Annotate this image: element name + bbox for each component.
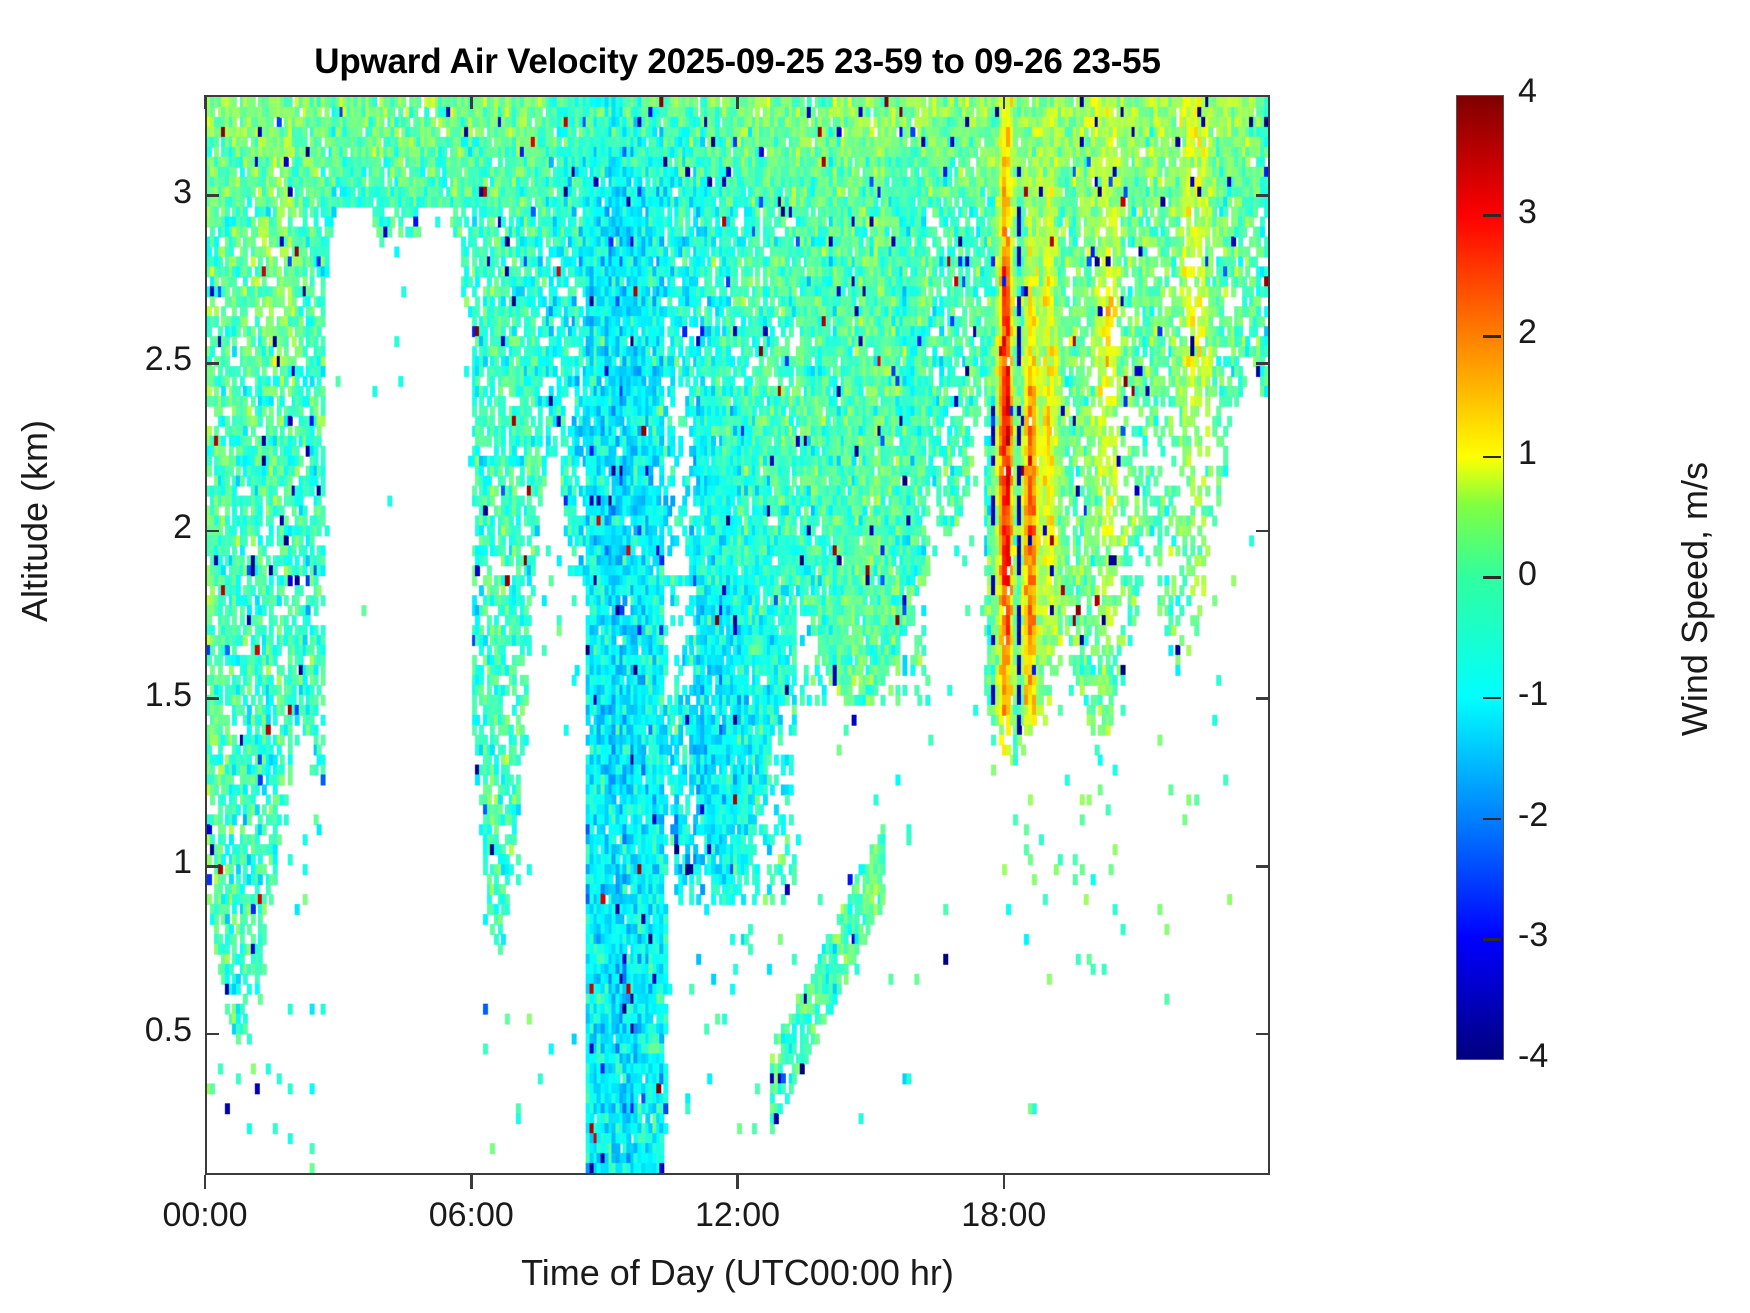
x-tick-mark: [1003, 1175, 1006, 1189]
x-tick-mark: [736, 1175, 739, 1189]
y-tick-label: 1: [173, 843, 192, 882]
x-tick-label: 00:00: [162, 1196, 247, 1235]
y-tick-label: 3: [173, 173, 192, 212]
colorbar-tick-label: 1: [1518, 434, 1537, 473]
y-tick-mark-right: [1256, 362, 1270, 365]
y-tick-label: 2.5: [145, 340, 192, 379]
y-tick-mark: [205, 194, 219, 197]
y-tick-mark-right: [1256, 1033, 1270, 1036]
colorbar-tick-mark: [1483, 576, 1501, 579]
colorbar-tick-mark: [1483, 938, 1501, 941]
x-tick-label: 06:00: [429, 1196, 514, 1235]
x-tick-mark-top: [1003, 95, 1006, 109]
colorbar-tick-label: -2: [1518, 796, 1548, 835]
colorbar-label: Wind Speed, m/s: [1674, 349, 1716, 849]
colorbar-tick-label: 0: [1518, 555, 1537, 594]
heatmap-canvas: [207, 97, 1268, 1173]
page-title: Upward Air Velocity 2025-09-25 23-59 to …: [205, 42, 1270, 82]
x-axis-label: Time of Day (UTC00:00 hr): [205, 1252, 1270, 1294]
colorbar-tick-label: -3: [1518, 916, 1548, 955]
y-tick-label: 0.5: [145, 1011, 192, 1050]
y-tick-mark-right: [1256, 697, 1270, 700]
colorbar-tick-mark: [1483, 214, 1501, 217]
colorbar-tick-label: 3: [1518, 193, 1537, 232]
y-tick-mark-right: [1256, 194, 1270, 197]
figure-root: Upward Air Velocity 2025-09-25 23-59 to …: [0, 0, 1750, 1313]
x-tick-mark-top: [204, 95, 207, 109]
colorbar-tick-mark: [1483, 697, 1501, 700]
y-tick-mark-right: [1256, 865, 1270, 868]
colorbar-tick-label: -1: [1518, 675, 1548, 714]
y-tick-mark: [205, 362, 219, 365]
colorbar-tick-label: 2: [1518, 313, 1537, 352]
y-tick-mark: [205, 697, 219, 700]
x-tick-label: 12:00: [695, 1196, 780, 1235]
heatmap-plot-area: [205, 95, 1270, 1175]
x-tick-mark: [204, 1175, 207, 1189]
y-tick-mark: [205, 530, 219, 533]
x-tick-label: 18:00: [961, 1196, 1046, 1235]
colorbar-tick-mark: [1483, 456, 1501, 459]
x-tick-mark-top: [736, 95, 739, 109]
colorbar-tick-label: -4: [1518, 1037, 1548, 1076]
colorbar-tick-mark: [1483, 818, 1501, 821]
y-tick-label: 2: [173, 508, 192, 547]
y-tick-label: 1.5: [145, 676, 192, 715]
x-tick-mark: [470, 1175, 473, 1189]
y-tick-mark-right: [1256, 530, 1270, 533]
y-axis-label: Altitude (km): [14, 311, 56, 731]
y-tick-mark: [205, 1033, 219, 1036]
x-tick-mark-top: [470, 95, 473, 109]
y-tick-mark: [205, 865, 219, 868]
colorbar-tick-mark: [1483, 335, 1501, 338]
colorbar-tick-label: 4: [1518, 72, 1537, 111]
